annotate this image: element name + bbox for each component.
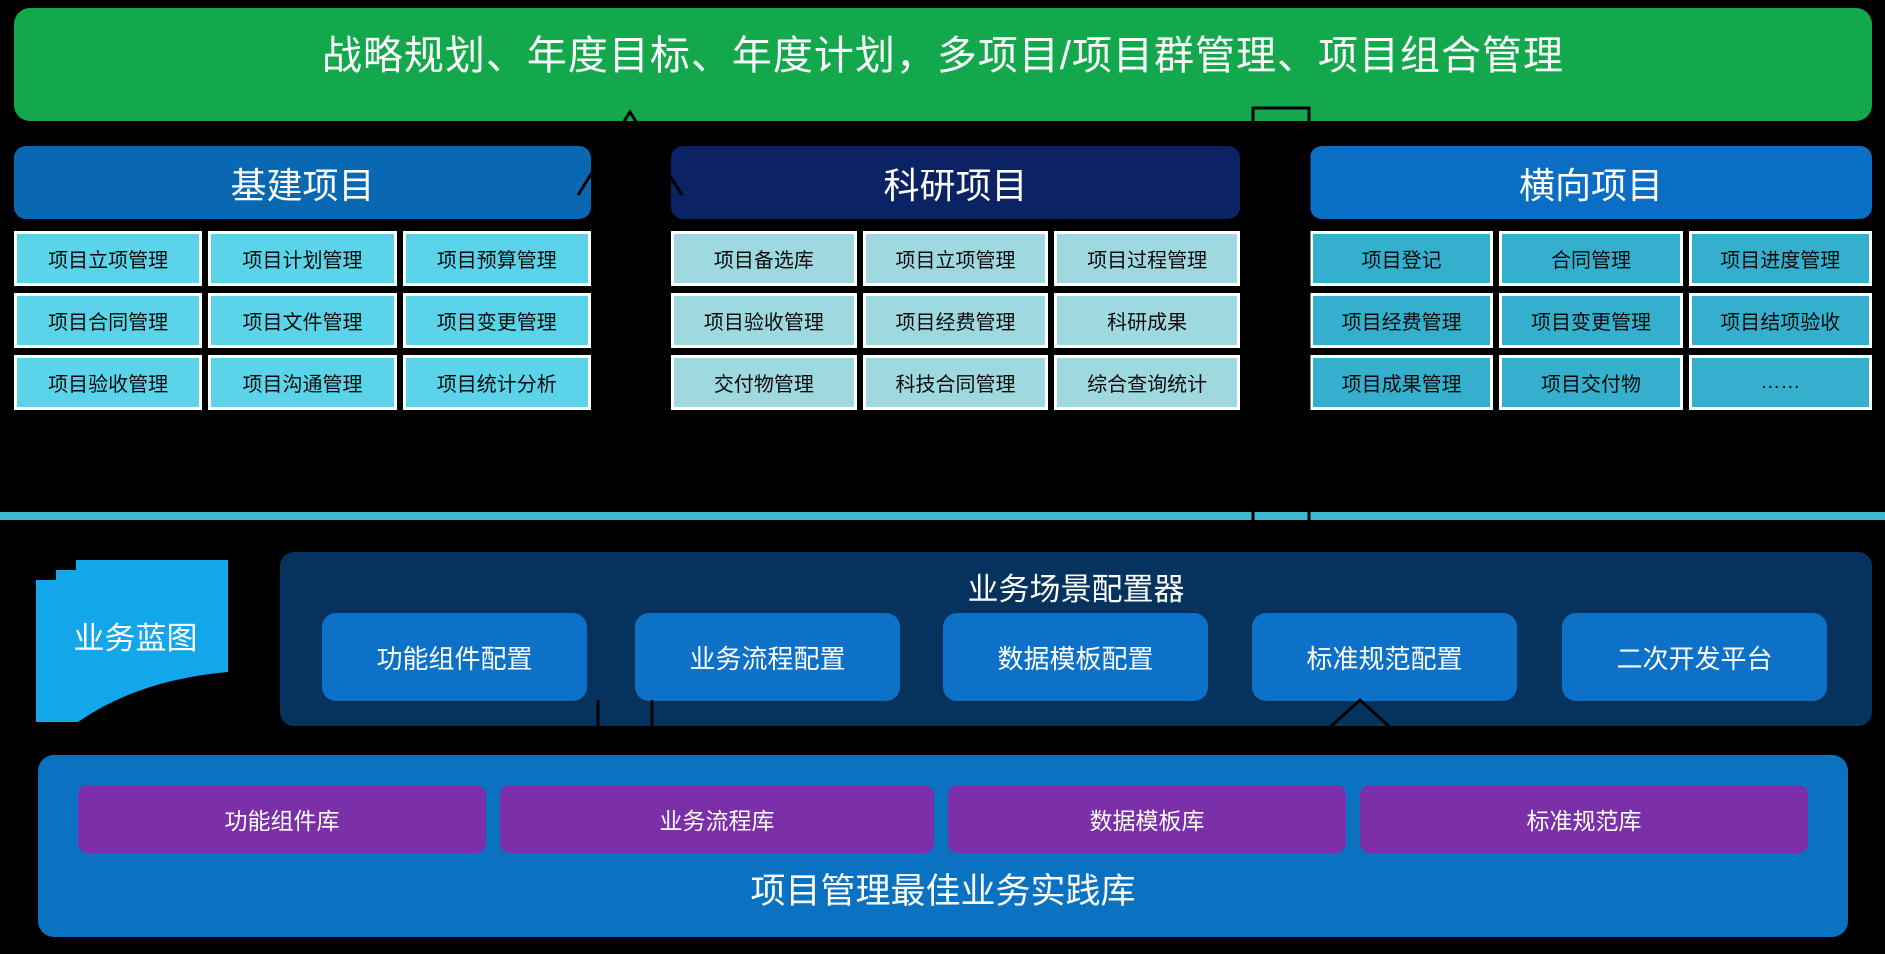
project-cell[interactable]: 项目验收管理 <box>14 355 202 410</box>
project-cell[interactable]: 项目验收管理 <box>671 293 857 348</box>
diagram-canvas: 战略规划、年度目标、年度计划，多项目/项目群管理、项目组合管理 基建项目 项目立… <box>0 0 1885 954</box>
project-cell[interactable]: 交付物管理 <box>671 355 857 410</box>
project-cell[interactable]: 科研成果 <box>1054 293 1240 348</box>
project-cell-row: 项目立项管理 项目计划管理 项目预算管理 <box>14 231 591 286</box>
project-cell-row: 交付物管理 科技合同管理 综合查询统计 <box>671 355 1240 410</box>
best-practice-library-title: 项目管理最佳业务实践库 <box>38 857 1848 919</box>
project-cell[interactable]: 项目预算管理 <box>403 231 591 286</box>
project-cell[interactable]: 科技合同管理 <box>863 355 1049 410</box>
project-cell[interactable]: 综合查询统计 <box>1054 355 1240 410</box>
project-cell[interactable]: 项目统计分析 <box>403 355 591 410</box>
project-cell[interactable]: 项目变更管理 <box>403 293 591 348</box>
project-cell-row: 项目验收管理 项目经费管理 科研成果 <box>671 293 1240 348</box>
project-column-header[interactable]: 科研项目 <box>671 146 1240 219</box>
project-cell[interactable]: 项目过程管理 <box>1054 231 1240 286</box>
project-cell-row: 项目经费管理 项目变更管理 项目结项验收 <box>1310 293 1872 348</box>
project-cell[interactable]: 合同管理 <box>1499 231 1682 286</box>
scene-configurator-title: 业务场景配置器 <box>280 562 1872 610</box>
project-cell[interactable]: 项目登记 <box>1310 231 1493 286</box>
configurator-chip-standard[interactable]: 标准规范配置 <box>1252 613 1517 701</box>
project-cell[interactable]: 项目立项管理 <box>14 231 202 286</box>
project-cell-row: 项目备选库 项目立项管理 项目过程管理 <box>671 231 1240 286</box>
project-cell[interactable]: 项目经费管理 <box>1310 293 1493 348</box>
project-cell[interactable]: 项目交付物 <box>1499 355 1682 410</box>
strategy-banner: 战略规划、年度目标、年度计划，多项目/项目群管理、项目组合管理 <box>14 8 1872 121</box>
project-cell[interactable]: 项目计划管理 <box>208 231 396 286</box>
project-cell-row: 项目合同管理 项目文件管理 项目变更管理 <box>14 293 591 348</box>
project-cell[interactable]: 项目经费管理 <box>863 293 1049 348</box>
project-cell[interactable]: 项目文件管理 <box>208 293 396 348</box>
project-cell-row: 项目成果管理 项目交付物 …… <box>1310 355 1872 410</box>
project-column-header[interactable]: 基建项目 <box>14 146 591 219</box>
project-cell-row: 项目登记 合同管理 项目进度管理 <box>1310 231 1872 286</box>
project-column-research: 科研项目 项目备选库 项目立项管理 项目过程管理 项目验收管理 项目经费管理 科… <box>671 146 1240 417</box>
project-cell[interactable]: 项目立项管理 <box>863 231 1049 286</box>
project-cell[interactable]: 项目变更管理 <box>1499 293 1682 348</box>
strategy-banner-label: 战略规划、年度目标、年度计划，多项目/项目群管理、项目组合管理 <box>322 23 1564 81</box>
project-cell[interactable]: 项目沟通管理 <box>208 355 396 410</box>
library-chip-standard[interactable]: 标准规范库 <box>1360 785 1808 853</box>
configurator-chip-secondary-dev[interactable]: 二次开发平台 <box>1562 613 1827 701</box>
project-column-header[interactable]: 横向项目 <box>1310 146 1872 219</box>
library-chip-data-template[interactable]: 数据模板库 <box>948 785 1346 853</box>
configurator-chip-data-template[interactable]: 数据模板配置 <box>943 613 1208 701</box>
project-cell[interactable]: 项目合同管理 <box>14 293 202 348</box>
project-cell[interactable]: 项目备选库 <box>671 231 857 286</box>
project-cell[interactable]: 项目进度管理 <box>1689 231 1872 286</box>
project-cell-row: 项目验收管理 项目沟通管理 项目统计分析 <box>14 355 591 410</box>
project-cell[interactable]: 项目结项验收 <box>1689 293 1872 348</box>
library-chip-component[interactable]: 功能组件库 <box>78 785 486 853</box>
library-chip-process[interactable]: 业务流程库 <box>500 785 934 853</box>
configurator-chip-process[interactable]: 业务流程配置 <box>635 613 900 701</box>
project-column-base-construction: 基建项目 项目立项管理 项目计划管理 项目预算管理 项目合同管理 项目文件管理 … <box>14 146 591 417</box>
project-cell[interactable]: …… <box>1689 355 1872 410</box>
section-divider <box>0 512 1885 520</box>
configurator-chip-component[interactable]: 功能组件配置 <box>322 613 587 701</box>
project-column-horizontal: 横向项目 项目登记 合同管理 项目进度管理 项目经费管理 项目变更管理 项目结项… <box>1310 146 1872 417</box>
business-blueprint-label: 业务蓝图 <box>18 600 253 670</box>
project-cell[interactable]: 项目成果管理 <box>1310 355 1493 410</box>
